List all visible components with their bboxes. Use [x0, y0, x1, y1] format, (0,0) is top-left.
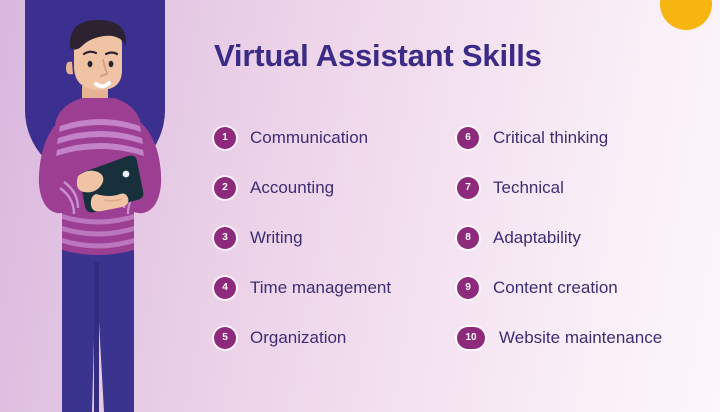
- skill-item-2: 2 Accounting: [214, 176, 391, 199]
- skill-item-10: 10 Website maintenance: [457, 326, 662, 349]
- skill-item-9: 9 Content creation: [457, 276, 662, 299]
- skill-number-badge: 9: [457, 277, 479, 299]
- skill-number-badge: 8: [457, 227, 479, 249]
- man-holding-tablet-illustration: [0, 0, 200, 412]
- skills-column-right: 6 Critical thinking 7 Technical 8 Adapta…: [457, 126, 662, 376]
- decorative-circle-icon: [660, 0, 712, 30]
- skill-label: Accounting: [250, 178, 334, 198]
- skill-label: Time management: [250, 278, 391, 298]
- slide-canvas: Virtual Assistant Skills 1 Communication…: [0, 0, 720, 412]
- skill-label: Website maintenance: [499, 328, 662, 348]
- skill-number-badge: 3: [214, 227, 236, 249]
- skill-label: Communication: [250, 128, 368, 148]
- skill-item-7: 7 Technical: [457, 176, 662, 199]
- skill-label: Critical thinking: [493, 128, 608, 148]
- skill-number-badge: 6: [457, 127, 479, 149]
- skill-item-4: 4 Time management: [214, 276, 391, 299]
- skill-item-8: 8 Adaptability: [457, 226, 662, 249]
- skills-column-left: 1 Communication 2 Accounting 3 Writing 4…: [214, 126, 391, 376]
- skill-label: Content creation: [493, 278, 618, 298]
- skill-number-badge: 4: [214, 277, 236, 299]
- skill-label: Adaptability: [493, 228, 581, 248]
- skill-item-6: 6 Critical thinking: [457, 126, 662, 149]
- skill-item-5: 5 Organization: [214, 326, 391, 349]
- skill-number-badge: 2: [214, 177, 236, 199]
- skill-number-badge: 1: [214, 127, 236, 149]
- skill-label: Organization: [250, 328, 346, 348]
- skill-label: Technical: [493, 178, 564, 198]
- page-title: Virtual Assistant Skills: [214, 38, 542, 74]
- skill-item-1: 1 Communication: [214, 126, 391, 149]
- skill-label: Writing: [250, 228, 303, 248]
- skill-number-badge: 5: [214, 327, 236, 349]
- skill-number-badge: 7: [457, 177, 479, 199]
- skill-number-badge: 10: [457, 327, 485, 349]
- skill-item-3: 3 Writing: [214, 226, 391, 249]
